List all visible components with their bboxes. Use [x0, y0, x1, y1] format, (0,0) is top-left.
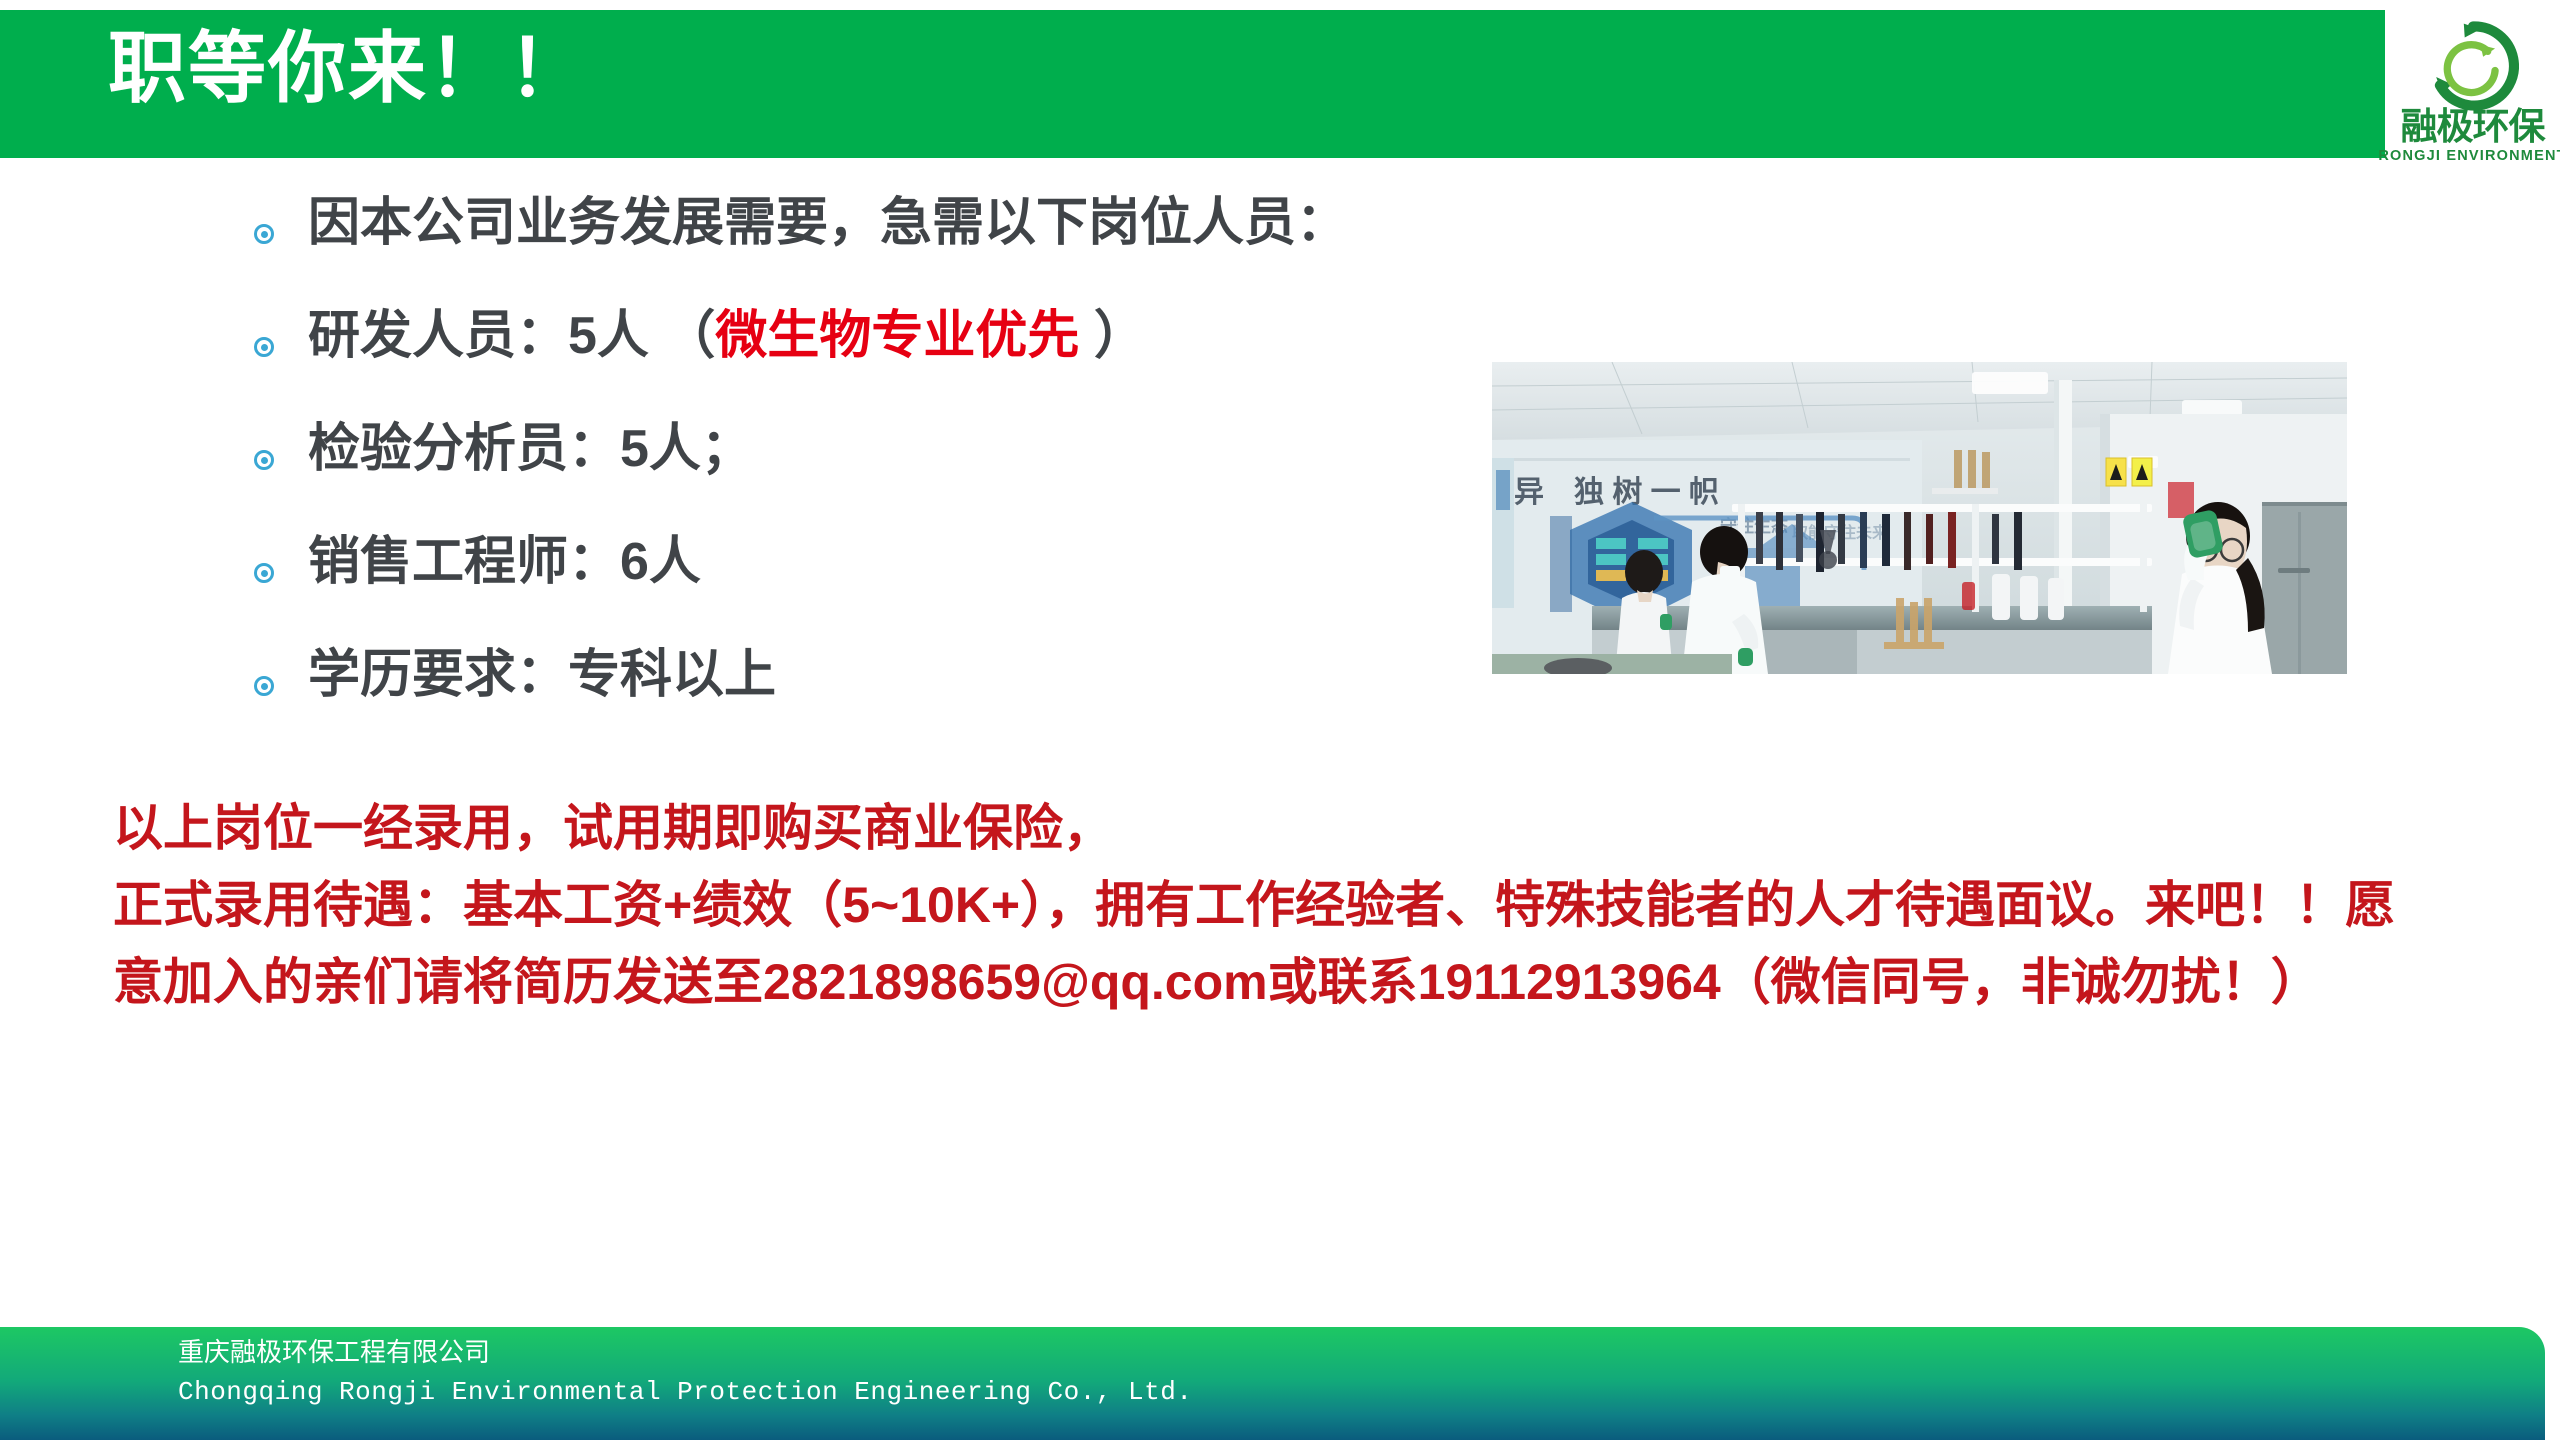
notice-paragraph: 以上岗位一经录用，试用期即购买商业保险， 正式录用待遇：基本工资+绩效（5~10…: [113, 790, 2443, 1021]
list-item-label: 因本公司业务发展需要，急需以下岗位人员：: [308, 196, 1348, 251]
list-item-label: 销售工程师：6人: [308, 535, 701, 590]
bullet-dot-icon: [250, 220, 284, 254]
bullet-dot-icon: [250, 333, 284, 367]
laboratory-photo: 异 独 树 一 帜 守住生态 取能守住未来: [1492, 362, 2347, 674]
list-item: 研发人员：5人 （微生物专业优先 ）: [250, 309, 1500, 422]
list-item-label: 检验分析员：5人；: [308, 422, 753, 477]
list-item-tail: ）: [1079, 307, 1145, 365]
bullet-dot-icon: [250, 446, 284, 480]
list-item: 学历要求：专科以上: [250, 648, 1500, 761]
list-item: 检验分析员：5人；: [250, 422, 1500, 535]
list-item-text: 研发人员：5人 （: [308, 307, 715, 365]
svg-text:异: 异: [1514, 476, 1544, 509]
list-item-label: 学历要求：专科以上: [308, 648, 776, 703]
list-item-label: 研发人员：5人 （微生物专业优先 ）: [308, 309, 1146, 364]
list-item-highlight: 微生物专业优先: [715, 307, 1079, 365]
list-item: 销售工程师：6人: [250, 535, 1500, 648]
page-title: 职等你来！！: [108, 29, 588, 107]
logo-name-cn: 融极环保: [2401, 108, 2545, 145]
notice-line-1: 以上岗位一经录用，试用期即购买商业保险，: [113, 790, 2443, 867]
bullet-dot-icon: [250, 559, 284, 593]
notice-line-2: 正式录用待遇：基本工资+绩效（5~10K+），拥有工作经验者、特殊技能者的人才待…: [113, 867, 2443, 1021]
list-item: 因本公司业务发展需要，急需以下岗位人员：: [250, 196, 1500, 309]
company-logo: 融极环保 RONGJI ENVIRONMENT: [2385, 8, 2560, 200]
logo-name-en: RONGJI ENVIRONMENT: [2378, 149, 2560, 164]
recycle-circle-icon: [2427, 14, 2519, 106]
footer-company-cn: 重庆融极环保工程有限公司: [178, 1337, 490, 1368]
job-bullet-list: 因本公司业务发展需要，急需以下岗位人员： 研发人员：5人 （微生物专业优先 ） …: [250, 196, 1500, 761]
footer-company-en: Chongqing Rongji Environmental Protectio…: [178, 1377, 1192, 1408]
slide-root: 职等你来！！ 融极环保 RONGJI ENVIRONMENT 因本公司业务发展需…: [0, 0, 2560, 1440]
svg-text:独 树 一 帜: 独 树 一 帜: [1574, 476, 1719, 509]
bullet-dot-icon: [250, 672, 284, 706]
